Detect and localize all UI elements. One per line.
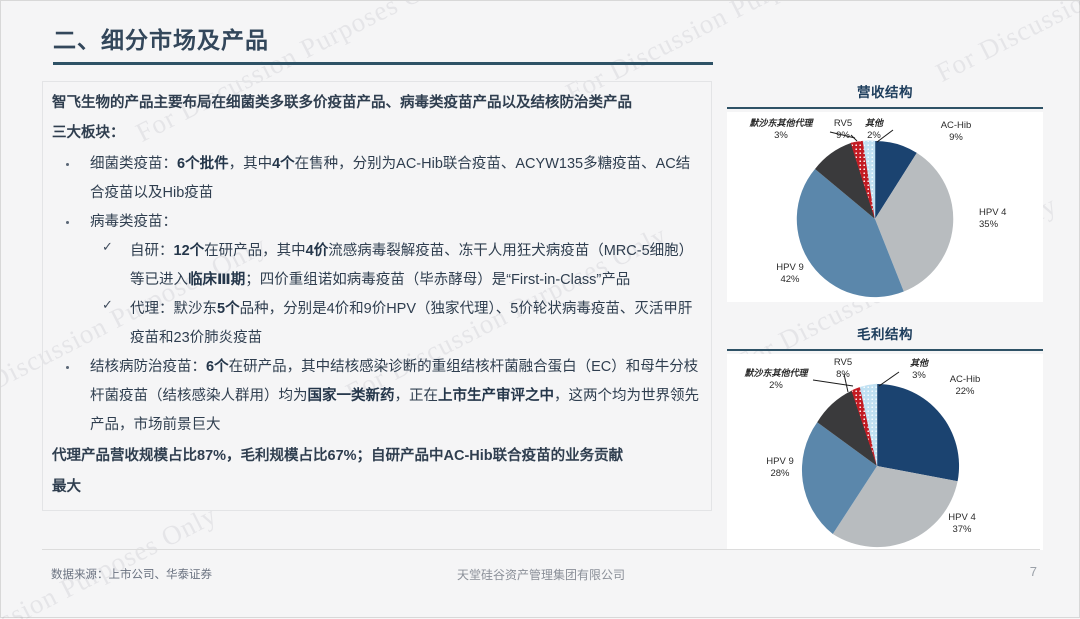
bullet-dot-icon [66, 221, 69, 224]
list-item: 细菌类疫苗：6个批件，其中4个在售种，分别为AC-Hib联合疫苗、ACYW135… [52, 150, 701, 208]
bullet-3-seg-a: 结核病防治疫苗： [90, 359, 206, 375]
revenue-chart-divider [727, 107, 1043, 109]
gross-profit-label-hpv4-name: HPV 4 [948, 512, 975, 523]
gross-profit-label-msd-name: 默沙东其他代理 [744, 368, 807, 378]
revenue-label-msd-other: 默沙东其他代理 3% [733, 118, 829, 141]
bullet-3-em-a: 6个 [206, 359, 229, 375]
slide-canvas: For Discussion Purposes Only For Discuss… [0, 0, 1080, 618]
revenue-label-hpv9: HPV 9 42% [755, 262, 825, 285]
revenue-pie-plot: AC-Hib 9% HPV 4 35% HPV 9 42% RV5 9% 默沙东… [727, 112, 1043, 302]
revenue-label-hpv9-value: 42% [780, 274, 799, 285]
gross-profit-label-msd-value: 2% [769, 380, 783, 391]
list-item: ✓ 自研：12个在研产品，其中4价流感病毒裂解疫苗、冻干人用狂犬病疫苗（MRC-… [90, 237, 701, 295]
watermark-text: For Discussion Purposes Only [931, 1, 1080, 89]
leader-line-other [879, 372, 899, 386]
revenue-label-ac-hib-value: 9% [949, 132, 963, 143]
gross-profit-label-rv5: RV5 8% [823, 357, 863, 380]
bullet-dot-icon [66, 163, 69, 166]
revenue-chart-title: 营收结构 [719, 79, 1051, 101]
revenue-label-msd-name: 默沙东其他代理 [749, 118, 812, 128]
sub-bullet-1-text: 自研：12个在研产品，其中4价流感病毒裂解疫苗、冻干人用狂犬病疫苗（MRC-5细… [130, 237, 701, 295]
sub-bullet-list: ✓ 自研：12个在研产品，其中4价流感病毒裂解疫苗、冻干人用狂犬病疫苗（MRC-… [90, 237, 701, 353]
gross-profit-pie-plot: AC-Hib 22% HPV 4 37% HPV 9 28% RV5 8% 默沙… [727, 354, 1043, 550]
sub1-seg-a: 自研： [130, 243, 174, 259]
gross-profit-label-other-value: 3% [912, 370, 926, 381]
gross-profit-chart-divider [727, 349, 1043, 351]
gross-profit-label-ac-hib: AC-Hib 22% [929, 374, 1001, 397]
closing-line-1: 代理产品营收规模占比87%，毛利规模占比67%；自研产品中AC-Hib联合疫苗的… [52, 441, 701, 471]
gross-profit-structure-chart-card: 毛利结构 [719, 321, 1051, 559]
revenue-label-ac-hib-name: AC-Hib [941, 120, 972, 131]
check-icon: ✓ [102, 297, 113, 313]
gross-profit-label-rv5-value: 8% [836, 369, 850, 380]
bullet-1-em-b: 4个 [272, 156, 295, 172]
revenue-label-hpv9-name: HPV 9 [776, 262, 803, 273]
sub1-seg-b: 在研产品，其中 [204, 243, 306, 259]
sub2-em-a: 5个 [217, 301, 240, 317]
gross-profit-chart-title: 毛利结构 [719, 321, 1051, 343]
title-divider [53, 62, 713, 65]
bullet-dot-icon [66, 366, 69, 369]
revenue-label-other-value: 2% [867, 130, 881, 141]
revenue-label-hpv4-name: HPV 4 [979, 207, 1006, 218]
gross-profit-label-hpv9-name: HPV 9 [766, 456, 793, 467]
bullet-3-text: 结核病防治疫苗：6个在研产品，其中结核感染诊断的重组结核杆菌融合蛋白（EC）和母… [90, 353, 701, 440]
gross-profit-label-other-name: 其他 [910, 358, 928, 368]
footer-divider [42, 549, 1040, 550]
revenue-label-rv5-value: 9% [836, 130, 850, 141]
gross-profit-label-hpv4: HPV 4 37% [927, 512, 997, 535]
bullet-3-em-b: 国家一类新药 [308, 388, 395, 404]
sub1-seg-d: ；四价重组诺如病毒疫苗（毕赤酵母）是“First-in-Class”产品 [245, 272, 630, 288]
sub1-em-b: 4价 [306, 243, 329, 259]
lead-paragraph-line1: 智飞生物的产品主要布局在细菌类多联多价疫苗产品、病毒类疫苗产品以及结核防治类产品 [52, 88, 701, 118]
revenue-label-hpv4: HPV 4 35% [979, 207, 1039, 230]
sub2-seg-a: 代理：默沙东 [130, 301, 217, 317]
list-item: 结核病防治疫苗：6个在研产品，其中结核感染诊断的重组结核杆菌融合蛋白（EC）和母… [52, 353, 701, 440]
gross-profit-label-ac-hib-value: 22% [955, 386, 974, 397]
gross-profit-label-hpv9-value: 28% [770, 468, 789, 479]
gross-profit-label-other: 其他 3% [899, 358, 939, 381]
bullet-2-text: 病毒类疫苗： [90, 208, 701, 237]
sub-bullet-2-text: 代理：默沙东5个品种，分别是4价和9价HPV（独家代理）、5价轮状病毒疫苗、灭活… [130, 295, 701, 353]
gross-profit-label-ac-hib-name: AC-Hib [950, 374, 981, 385]
lead-paragraph-line2: 三大板块： [52, 118, 701, 148]
closing-line-2: 最大 [52, 472, 701, 502]
revenue-label-msd-value: 3% [774, 130, 788, 141]
sub1-em-a: 12个 [174, 243, 205, 259]
revenue-label-rv5-name: RV5 [834, 118, 852, 129]
list-item: 病毒类疫苗： ✓ 自研：12个在研产品，其中4价流感病毒裂解疫苗、冻干人用狂犬病… [52, 208, 701, 353]
gross-profit-label-rv5-name: RV5 [834, 357, 852, 368]
sub1-em-c: 临床Ⅲ期 [188, 272, 245, 288]
bullet-list: 细菌类疫苗：6个批件，其中4个在售种，分别为AC-Hib联合疫苗、ACYW135… [52, 150, 701, 440]
revenue-label-ac-hib: AC-Hib 9% [921, 120, 991, 143]
slide-title-block: 二、细分市场及产品 [53, 25, 713, 65]
bullet-1-text: 细菌类疫苗：6个批件，其中4个在售种，分别为AC-Hib联合疫苗、ACYW135… [90, 150, 701, 208]
list-item: ✓ 代理：默沙东5个品种，分别是4价和9价HPV（独家代理）、5价轮状病毒疫苗、… [90, 295, 701, 353]
gross-profit-slice-ac-hib [877, 384, 959, 481]
bullet-1-seg-b: ，其中 [229, 156, 273, 172]
gross-profit-label-msd-other: 默沙东其他代理 2% [729, 368, 823, 391]
revenue-structure-chart-card: 营收结构 [719, 79, 1051, 312]
bullet-1-em-a: 6个批件 [177, 156, 229, 172]
bullet-3-seg-c: ，正在 [395, 388, 439, 404]
check-icon: ✓ [102, 239, 113, 255]
gross-profit-label-hpv9: HPV 9 28% [745, 456, 815, 479]
bullet-3-em-c: 上市生产审评之中 [438, 388, 554, 404]
revenue-label-other: 其他 2% [855, 118, 893, 141]
page-title: 二、细分市场及产品 [53, 25, 713, 55]
gross-profit-label-hpv4-value: 37% [952, 524, 971, 535]
content-text-panel: 智飞生物的产品主要布局在细菌类多联多价疫苗产品、病毒类疫苗产品以及结核防治类产品… [42, 81, 712, 511]
revenue-label-other-name: 其他 [865, 118, 883, 128]
slide-footer [1, 549, 1080, 619]
bullet-1-seg-a: 细菌类疫苗： [90, 156, 177, 172]
revenue-label-hpv4-value: 35% [979, 219, 998, 230]
